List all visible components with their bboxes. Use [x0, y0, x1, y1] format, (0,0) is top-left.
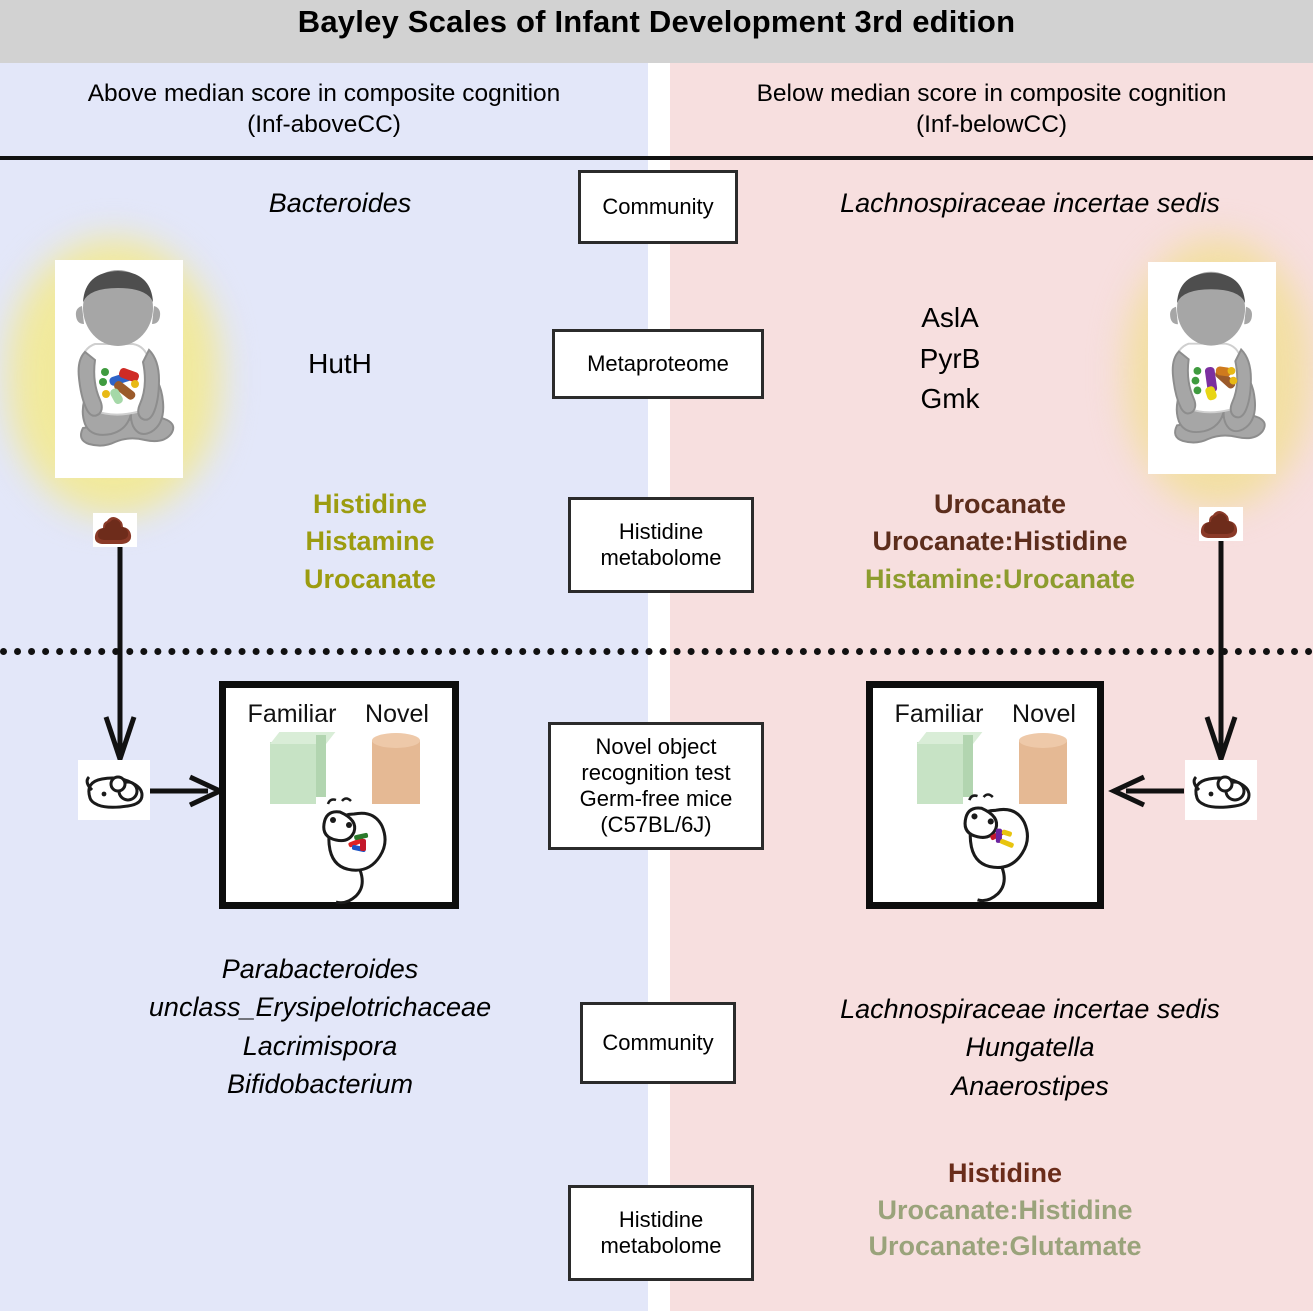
center-label-histidine-metabolome-bottom-line1: Histidine	[619, 1207, 703, 1233]
familiar-object-cube-side	[316, 735, 326, 797]
right-column-title-line2: (Inf-belowCC)	[670, 109, 1313, 140]
stool-icon	[1199, 507, 1243, 541]
left-infant-card	[55, 260, 183, 478]
right-column-title-line1: Below median score in composite cognitio…	[670, 78, 1313, 109]
list-item: Bacteroides	[130, 186, 550, 222]
left-column-title-line2: (Inf-aboveCC)	[0, 109, 648, 140]
center-label-histidine-metabolome-top-line1: Histidine	[619, 519, 703, 545]
figure-root: Bayley Scales of Infant Development 3rd …	[0, 0, 1313, 1311]
list-item: Urocanate:Glutamate	[790, 1228, 1220, 1265]
right-histidine-top-list: Urocanate Urocanate:Histidine Histamine:…	[790, 486, 1210, 598]
right-community-bottom-list: Lachnospiraceae incertae sedis Hungatell…	[750, 990, 1310, 1105]
right-metaproteome-list: AslA PyrB Gmk	[800, 298, 1100, 420]
list-item: Histamine	[200, 523, 540, 560]
arena-mouse-icon	[308, 798, 418, 910]
novel-object-cylinder-top	[372, 733, 420, 748]
list-item: Urocanate	[200, 561, 540, 598]
infant-icon	[55, 260, 183, 478]
right-histidine-bottom-list: Histidine Urocanate:Histidine Urocanate:…	[790, 1155, 1220, 1265]
infant-icon	[1148, 262, 1276, 474]
left-column-title: Above median score in composite cognitio…	[0, 78, 648, 141]
right-mouse-card	[1185, 760, 1257, 820]
center-label-community-bottom: Community	[580, 1002, 736, 1084]
list-item: unclass_Erysipelotrichaceae	[50, 988, 590, 1026]
list-item: AslA	[800, 298, 1100, 339]
nor-label-line3: Germ-free mice	[580, 786, 733, 812]
novel-object-cylinder	[372, 740, 420, 804]
right-stool-to-mouse-arrow	[1206, 541, 1236, 769]
right-stool-card	[1199, 507, 1243, 541]
right-community-top-list: Lachnospiraceae incertae sedis	[750, 186, 1310, 222]
mouse-icon	[1185, 760, 1257, 820]
left-novel-label: Novel	[352, 700, 442, 729]
right-mouse-to-test-arrow	[1110, 775, 1184, 807]
familiar-object-cube	[270, 742, 316, 804]
list-item: Gmk	[800, 379, 1100, 420]
list-item: Urocanate:Histidine	[790, 523, 1210, 560]
left-metaproteome-list: HutH	[180, 346, 500, 383]
list-item: Histamine:Urocanate	[790, 561, 1210, 598]
right-infant-card	[1148, 262, 1276, 474]
list-item: Urocanate:Histidine	[790, 1192, 1220, 1229]
list-item: Lacrimispora	[50, 1027, 590, 1065]
nor-label-line4: (C57BL/6J)	[600, 812, 711, 838]
list-item: PyrB	[800, 339, 1100, 380]
right-novel-label: Novel	[999, 700, 1089, 729]
nor-label-line1: Novel object	[595, 734, 716, 760]
center-label-histidine-metabolome-bottom-line2: metabolome	[600, 1233, 721, 1259]
header-divider-rule	[0, 156, 1313, 160]
human-to-mouse-divider	[0, 648, 1313, 655]
list-item: Parabacteroides	[50, 950, 590, 988]
list-item: Lachnospiraceae incertae sedis	[750, 990, 1310, 1028]
figure-title: Bayley Scales of Infant Development 3rd …	[0, 4, 1313, 40]
list-item: Histidine	[200, 486, 540, 523]
left-stool-card	[93, 513, 137, 547]
center-label-community-top: Community	[578, 170, 738, 244]
left-familiar-label: Familiar	[242, 700, 342, 729]
list-item: Hungatella	[750, 1028, 1310, 1066]
stool-icon	[93, 513, 137, 547]
center-label-community-top-text: Community	[602, 194, 713, 220]
left-stool-to-mouse-arrow	[105, 547, 135, 769]
left-community-bottom-list: Parabacteroides unclass_Erysipelotrichac…	[50, 950, 590, 1103]
right-nor-arena: Familiar Novel	[866, 681, 1104, 909]
list-item: HutH	[180, 346, 500, 383]
arena-mouse-icon	[949, 794, 1061, 908]
list-item: Bifidobacterium	[50, 1065, 590, 1103]
center-label-metaproteome: Metaproteome	[552, 329, 764, 399]
familiar-object-cube-side	[963, 735, 973, 797]
center-label-histidine-metabolome-top-line2: metabolome	[600, 545, 721, 571]
left-column-title-line1: Above median score in composite cognitio…	[0, 78, 648, 109]
center-label-novel-object-test: Novel object recognition test Germ-free …	[548, 722, 764, 850]
left-nor-arena: Familiar Novel	[219, 681, 459, 909]
left-mouse-to-test-arrow	[150, 775, 222, 807]
nor-label-line2: recognition test	[581, 760, 730, 786]
list-item: Urocanate	[790, 486, 1210, 523]
list-item: Lachnospiraceae incertae sedis	[750, 186, 1310, 222]
list-item: Anaerostipes	[750, 1067, 1310, 1105]
left-mouse-card	[78, 760, 150, 820]
center-label-metaproteome-text: Metaproteome	[587, 351, 729, 377]
list-item: Histidine	[790, 1155, 1220, 1192]
left-histidine-top-list: Histidine Histamine Urocanate	[200, 486, 540, 598]
center-label-histidine-metabolome-bottom: Histidine metabolome	[568, 1185, 754, 1281]
novel-object-cylinder-top	[1019, 733, 1067, 748]
right-column-title: Below median score in composite cognitio…	[670, 78, 1313, 141]
left-community-top-list: Bacteroides	[130, 186, 550, 222]
center-label-histidine-metabolome-top: Histidine metabolome	[568, 497, 754, 593]
center-label-community-bottom-text: Community	[602, 1030, 713, 1056]
right-familiar-label: Familiar	[889, 700, 989, 729]
mouse-icon	[78, 760, 150, 820]
